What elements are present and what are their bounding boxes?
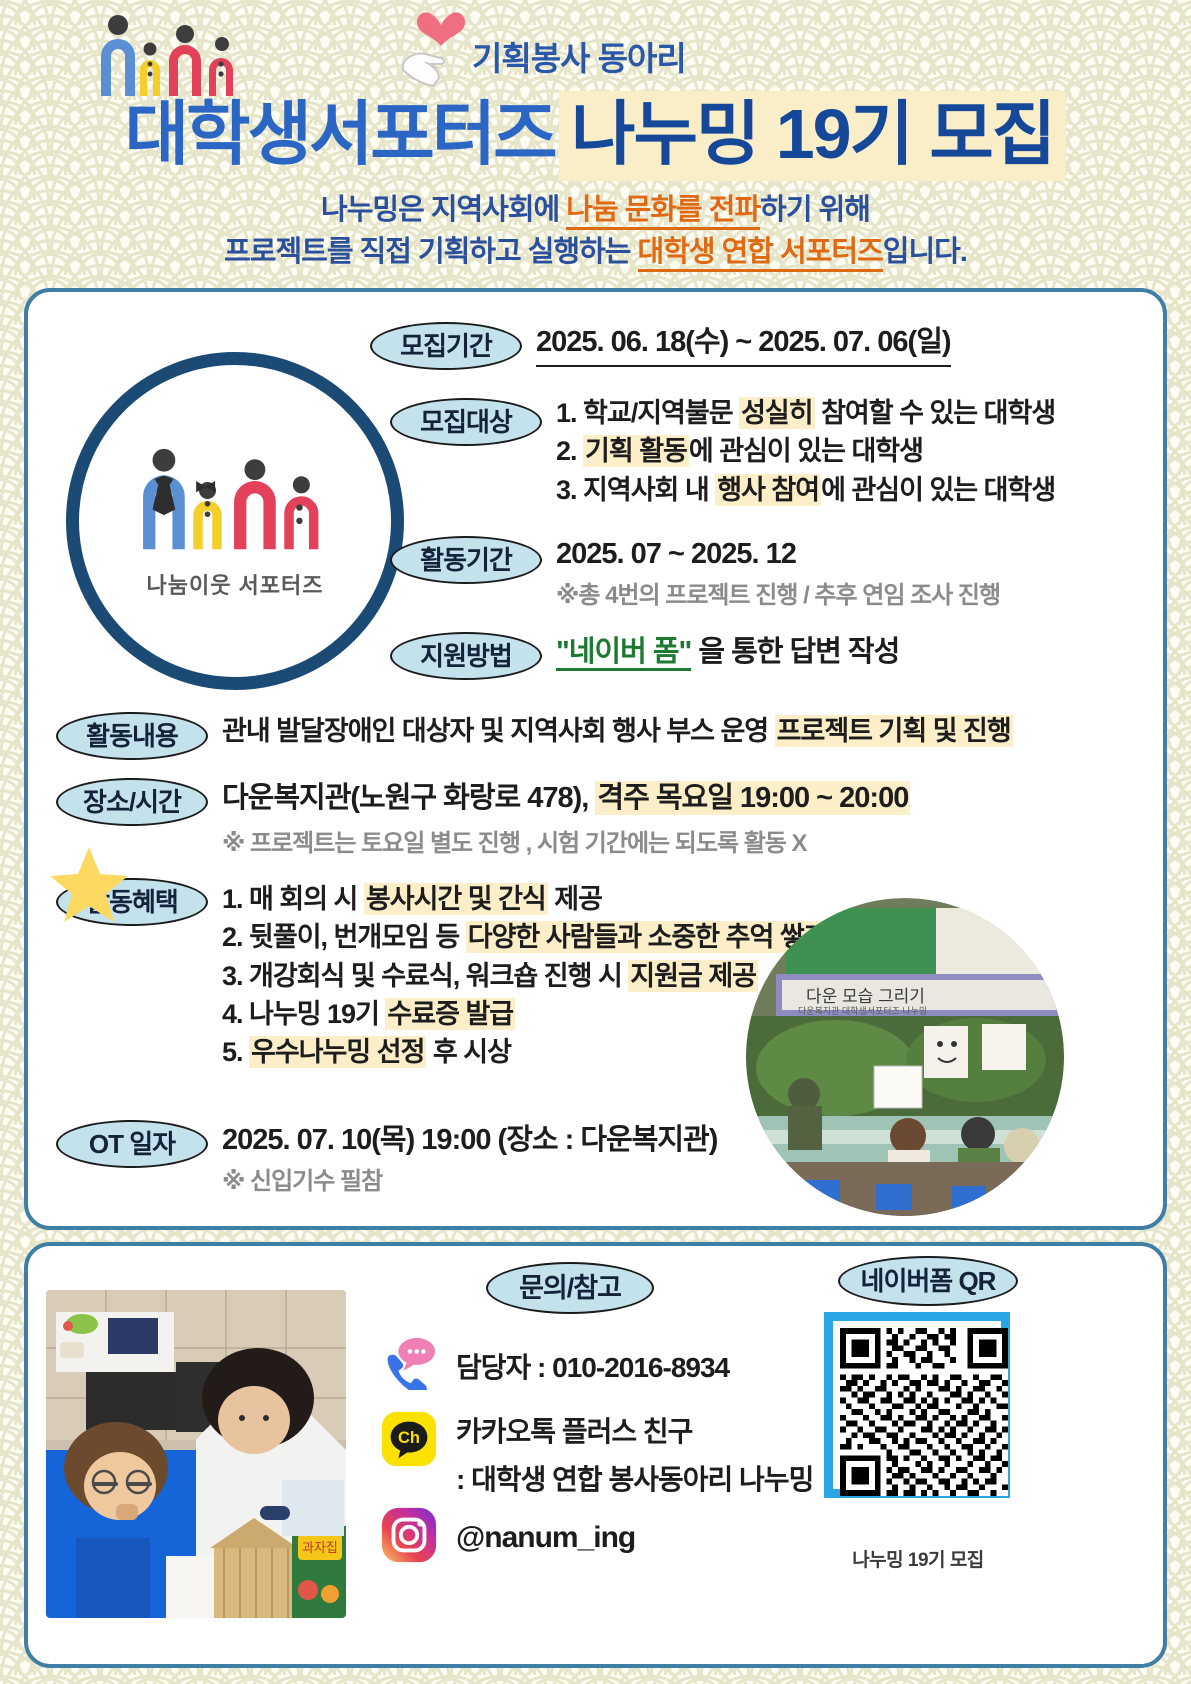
row-apply-method: 지원방법 "네이버 폼" 을 통한 답변 작성 (390, 632, 899, 680)
kakaotalk-channel-icon: Ch (380, 1410, 438, 1473)
organization-emblem: 나눔이웃 서포터즈 (66, 352, 404, 690)
subtitle-2b: 입니다. (883, 236, 967, 268)
subtitle-line-1: 나누밍은 지역사회에 나눔 문화를 전파하기 위해 (0, 186, 1191, 228)
subtitle-2a: 프로젝트를 직접 기획하고 실행하는 (224, 236, 637, 268)
contact-kakao[interactable]: Ch 카카오톡 플러스 친구 : 대학생 연합 봉사동아리 나누밍 (380, 1410, 813, 1498)
list-item: 2. 기획 활동에 관심이 있는 대학생 (556, 432, 1055, 470)
svg-text:다운복지관 대학생서포터즈 나누밍: 다운복지관 대학생서포터즈 나누밍 (798, 1006, 927, 1016)
row-benefits: 활동혜택 1. 매 회의 시 봉사시간 및 간식 제공 2. 뒷풀이, 번개모임… (56, 878, 830, 1072)
benefit-4-pre: 4. 나누밍 19기 (222, 999, 385, 1029)
benefit-5-post: 후 시상 (426, 1037, 511, 1067)
value-apply-method: "네이버 폼" 을 통한 답변 작성 (556, 632, 899, 673)
value-activity-content: 관내 발달장애인 대상자 및 지역사회 행사 부스 운영 프로젝트 기획 및 진… (222, 712, 1013, 750)
booth-activity-photo: 다운 모습 그리기 다운복지관 대학생서포터즈 나누밍 (746, 898, 1064, 1216)
benefit-2-pre: 2. 뒷풀이, 번개모임 등 (222, 922, 466, 952)
naver-form-link[interactable]: "네이버 폼" (556, 636, 691, 671)
label-apply-method: 지원방법 (390, 632, 542, 680)
benefit-1-pre: 1. 매 회의 시 (222, 884, 364, 914)
qr-code-icon[interactable] (824, 1312, 1010, 1498)
list-item: 3. 지역사회 내 행사 참여에 관심이 있는 대학생 (556, 471, 1055, 509)
workshop-activity-photo: 과자집 (46, 1290, 346, 1618)
target-3-hl: 행사 참여 (715, 474, 821, 506)
instagram-icon (380, 1506, 438, 1569)
target-3-post: 에 관심이 있는 대학생 (821, 475, 1055, 505)
benefit-4-hl: 수료증 발급 (385, 998, 515, 1030)
row-place-time: 장소/시간 다운복지관(노원구 화랑로 478), 격주 목요일 19:00 ~… (56, 778, 910, 858)
benefit-5-hl: 우수나누밍 선정 (249, 1036, 426, 1068)
place-pre: 다운복지관(노원구 화랑로 478), (222, 782, 595, 814)
benefit-5-pre: 5. (222, 1037, 249, 1067)
benefit-3-hl: 지원금 제공 (628, 960, 758, 992)
target-2-hl: 기획 활동 (583, 435, 689, 467)
kakao-line-1: 카카오톡 플러스 친구 (456, 1410, 813, 1450)
phone-chat-icon (380, 1336, 438, 1395)
instagram-handle: @nanum_ing (456, 1521, 635, 1555)
svg-text:과자집: 과자집 (302, 1540, 338, 1555)
list-item: 1. 학교/지역불문 성실히 참여할 수 있는 대학생 (556, 394, 1055, 432)
row-ot-date: OT 일자 2025. 07. 10(목) 19:00 (장소 : 다운복지관)… (56, 1120, 717, 1196)
subtitle-1-highlight: 나눔 문화를 전파 (566, 194, 760, 230)
target-3-pre: 3. 지역사회 내 (556, 475, 715, 505)
target-1-pre: 1. 학교/지역불문 (556, 398, 739, 428)
benefit-1-post: 제공 (548, 884, 602, 914)
label-activity-content: 활동내용 (56, 712, 208, 760)
label-recruit-period: 모집기간 (370, 322, 522, 370)
title-part1: 대학생서포터즈 (125, 95, 555, 173)
label-activity-period: 활동기간 (390, 536, 542, 584)
place-hl: 격주 목요일 19:00 ~ 20:00 (595, 781, 910, 815)
value-place-time: 다운복지관(노원구 화랑로 478), 격주 목요일 19:00 ~ 20:00 (222, 778, 910, 819)
benefit-2-hl: 다양한 사람들과 소중한 추억 쌓기 (466, 921, 830, 953)
target-2-post: 에 관심이 있는 대학생 (689, 436, 923, 466)
tagline: 기획봉사 동아리 (472, 32, 686, 80)
kakao-line-2: : 대학생 연합 봉사동아리 나누밍 (456, 1458, 813, 1498)
value-activity-period: 2025. 07 ~ 2025. 12 (556, 534, 1000, 575)
row-recruit-period: 모집기간 2025. 06. 18(수) ~ 2025. 07. 06(일) (370, 322, 951, 370)
content-hl: 프로젝트 기획 및 진행 (775, 715, 1013, 747)
page-title: 대학생서포터즈 나누밍 19기 모집 (0, 78, 1191, 179)
label-place-time: 장소/시간 (56, 778, 208, 826)
value-ot-date: 2025. 07. 10(목) 19:00 (장소 : 다운복지관) (222, 1120, 717, 1161)
svg-text:Ch: Ch (398, 1429, 420, 1447)
list-item: 1. 매 회의 시 봉사시간 및 간식 제공 (222, 880, 830, 918)
contact-phone[interactable]: 담당자 : 010-2016-8934 (380, 1336, 729, 1395)
list-item: 4. 나누밍 19기 수료증 발급 (222, 995, 830, 1033)
row-activity-content: 활동내용 관내 발달장애인 대상자 및 지역사회 행사 부스 운영 프로젝트 기… (56, 712, 1013, 760)
subtitle-1b: 하기 위해 (760, 194, 870, 226)
label-qr: 네이버폼 QR (838, 1256, 1018, 1306)
emblem-caption: 나눔이웃 서포터즈 (146, 568, 323, 600)
phone-text: 담당자 : 010-2016-8934 (456, 1346, 729, 1386)
row-recruit-target: 모집대상 1. 학교/지역불문 성실히 참여할 수 있는 대학생 2. 기획 활… (390, 398, 1055, 509)
list-item: 3. 개강회식 및 수료식, 워크숍 진행 시 지원금 제공 (222, 957, 830, 995)
subtitle-2-highlight: 대학생 연합 서포터즈 (638, 236, 883, 272)
row-activity-period: 활동기간 2025. 07 ~ 2025. 12 ※총 4번의 프로젝트 진행 … (390, 536, 1000, 610)
target-2-pre: 2. (556, 436, 583, 466)
target-1-hl: 성실히 (739, 397, 815, 429)
target-1-post: 참여할 수 있는 대학생 (815, 398, 1056, 428)
content-pre: 관내 발달장애인 대상자 및 지역사회 행사 부스 운영 (222, 716, 775, 746)
note-place-time: ※ 프로젝트는 토요일 별도 진행 , 시험 기간에는 되도록 활동 X (222, 823, 910, 858)
star-decoration-icon (48, 845, 130, 925)
label-contact: 문의/참고 (486, 1262, 654, 1314)
subtitle-line-2: 프로젝트를 직접 기획하고 실행하는 대학생 연합 서포터즈입니다. (0, 228, 1191, 270)
title-part2: 나누밍 19기 모집 (559, 91, 1066, 181)
list-item: 2. 뒷풀이, 번개모임 등 다양한 사람들과 소중한 추억 쌓기 (222, 918, 830, 956)
contact-instagram[interactable]: @nanum_ing (380, 1506, 635, 1569)
benefit-3-pre: 3. 개강회식 및 수료식, 워크숍 진행 시 (222, 961, 628, 991)
note-activity-period: ※총 4번의 프로젝트 진행 / 추후 연임 조사 진행 (556, 575, 1000, 610)
value-recruit-period: 2025. 06. 18(수) ~ 2025. 07. 06(일) (536, 322, 951, 367)
poster-header: 기획봉사 동아리 대학생서포터즈 나누밍 19기 모집 나누밍은 지역사회에 나… (0, 0, 1191, 282)
qr-caption: 나누밍 19기 모집 (790, 1545, 1046, 1572)
svg-text:다운 모습 그리기: 다운 모습 그리기 (806, 987, 925, 1006)
subtitle-1a: 나누밍은 지역사회에 (321, 194, 566, 226)
label-recruit-target: 모집대상 (390, 398, 542, 446)
apply-suffix: 을 통한 답변 작성 (691, 636, 899, 668)
label-ot-date: OT 일자 (56, 1120, 208, 1168)
benefit-1-hl: 봉사시간 및 간식 (364, 883, 548, 915)
list-item: 5. 우수나누밍 선정 후 시상 (222, 1033, 830, 1071)
note-ot-date: ※ 신입기수 필참 (222, 1161, 717, 1196)
nanum-family-emblem-icon (126, 443, 344, 562)
